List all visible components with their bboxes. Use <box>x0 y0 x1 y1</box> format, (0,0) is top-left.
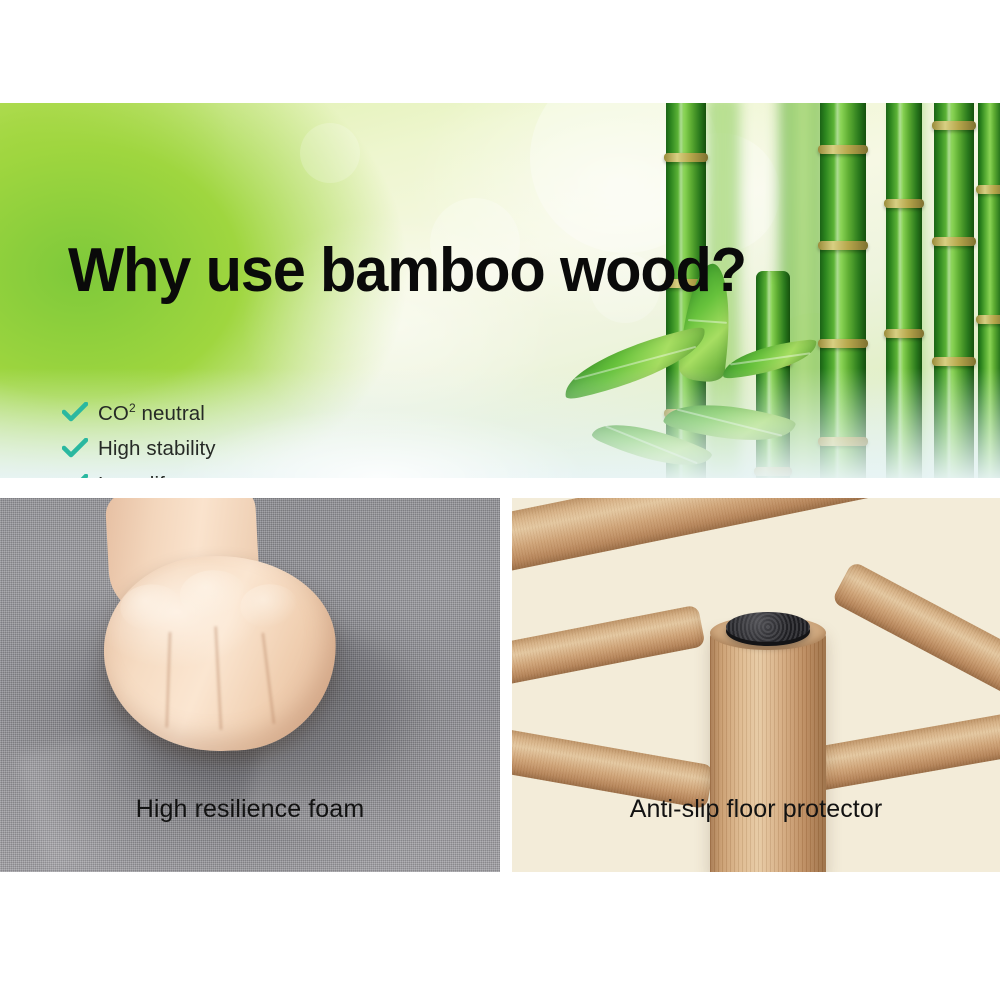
foam-panel: High resilience foam <box>0 498 500 872</box>
benefit-label: CO2 neutral <box>98 402 205 424</box>
knuckle-highlight <box>240 583 300 629</box>
check-icon <box>62 402 88 424</box>
bamboo-rail-top <box>512 498 1000 577</box>
benefit-label: High stability <box>98 439 216 460</box>
benefits-list: CO2 neutral High stability Long lifespan… <box>62 395 389 478</box>
floor-protector-panel: Anti-slip floor protector <box>512 498 1000 872</box>
bamboo-node <box>884 329 924 338</box>
why-bamboo-banner: Why use bamboo wood? CO2 neutral High st… <box>0 103 1000 478</box>
benefit-label: Long lifespan <box>98 475 221 478</box>
check-icon <box>62 474 88 478</box>
benefit-item: High stability <box>62 431 389 467</box>
bamboo-node <box>932 237 976 246</box>
foam-caption: High resilience foam <box>0 795 500 824</box>
bamboo-rail-middle <box>512 605 706 692</box>
anti-slip-pad <box>726 612 810 642</box>
finger-crease <box>214 626 222 730</box>
bamboo-leg <box>710 628 826 872</box>
bamboo-node <box>818 241 868 250</box>
benefit-item: CO2 neutral <box>62 395 389 431</box>
knuckle-highlight <box>120 583 184 631</box>
knuckle-highlight <box>179 569 247 619</box>
check-icon <box>62 438 88 460</box>
bamboo-node <box>932 357 976 366</box>
bamboo-node <box>664 153 708 162</box>
bamboo-node <box>818 145 868 154</box>
floor-protector-caption: Anti-slip floor protector <box>512 795 1000 824</box>
benefit-item: Long lifespan <box>62 467 389 478</box>
bamboo-node <box>976 185 1000 194</box>
bamboo-rail-right <box>831 561 1000 710</box>
bamboo-node <box>976 315 1000 324</box>
bamboo-rail-lower-right <box>808 705 1000 792</box>
finger-crease <box>165 632 171 728</box>
bamboo-node <box>884 199 924 208</box>
bokeh-circle <box>300 123 360 183</box>
finger-crease <box>261 632 275 724</box>
bamboo-node <box>932 121 976 130</box>
banner-title: Why use bamboo wood? <box>68 240 746 302</box>
